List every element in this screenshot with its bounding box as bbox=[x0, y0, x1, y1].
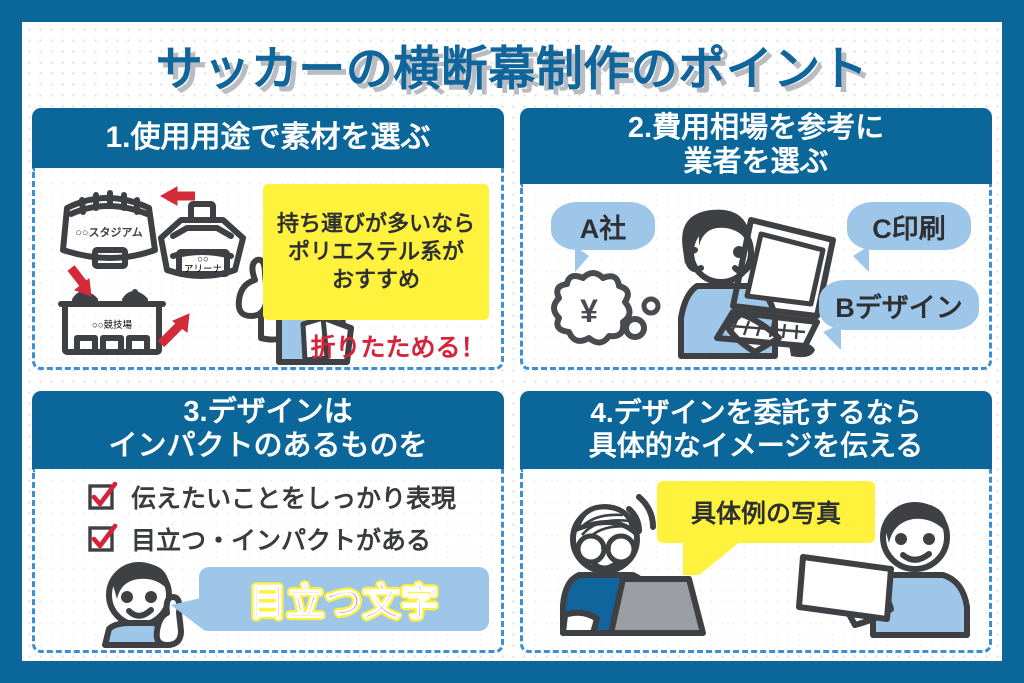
panel-3-heading-line1: 3.デザインは bbox=[108, 396, 427, 430]
panel-2-heading: 2.費用相場を参考に 業者を選ぶ bbox=[520, 108, 992, 184]
callout-line-1: 持ち運びが多いなら bbox=[277, 210, 475, 238]
checkbox-checked-icon bbox=[87, 524, 117, 554]
checklist-label-1: 伝えたいことをしっかり表現 bbox=[131, 479, 456, 515]
checklist-item-2: 目立つ・インパクトがある bbox=[87, 521, 431, 557]
panel-4-heading: 4.デザインを委託するなら 具体的なイメージを伝える bbox=[520, 391, 992, 469]
foldable-emphasis: 折りたためる！ bbox=[303, 328, 493, 364]
panel-2-body: ¥ bbox=[520, 184, 992, 370]
impact-text: 目立つ文字 bbox=[249, 572, 439, 626]
panel-1-heading: 1.使用用途で素材を選ぶ bbox=[32, 108, 504, 168]
infographic-frame: サッカーの横断幕制作のポイント 1.使用用途で素材を選ぶ bbox=[22, 22, 1002, 661]
panel-2-heading-line1: 2.費用相場を参考に bbox=[628, 112, 884, 146]
panel-3-heading-line2: インパクトのあるものを bbox=[108, 430, 427, 464]
vendor-bubble-b: Bデザイン bbox=[819, 280, 979, 330]
vendor-bubble-c: C印刷 bbox=[847, 202, 971, 250]
panel-4-heading-line1: 4.デザインを委託するなら bbox=[589, 397, 924, 430]
field-icon: ○○競技場 bbox=[61, 292, 163, 352]
venue-diagram: ○○スタジアム ○○ アリーナ bbox=[49, 174, 259, 364]
stadium-label: ○○スタジアム bbox=[75, 226, 143, 239]
panel-3-body: 伝えたいことをしっかり表現 目立つ・インパクトがある bbox=[32, 469, 504, 653]
checklist-item-1: 伝えたいことをしっかり表現 bbox=[87, 479, 456, 515]
field-label: ○○競技場 bbox=[92, 319, 132, 331]
vendor-bubble-a: A社 bbox=[551, 202, 655, 250]
panel-vendor-selection: 2.費用相場を参考に 業者を選ぶ ¥ bbox=[520, 108, 992, 370]
title-container: サッカーの横断幕制作のポイント bbox=[22, 30, 1002, 99]
callout-line-2: ポリエステル系が bbox=[288, 238, 464, 266]
panel-1-body: ○○スタジアム ○○ アリーナ bbox=[32, 168, 504, 370]
impact-bubble: 目立つ文字 bbox=[199, 567, 489, 631]
checkbox-checked-icon bbox=[87, 482, 117, 512]
callout-line-3: おすすめ bbox=[332, 266, 420, 294]
photo-bubble-tail bbox=[683, 541, 741, 575]
panel-3-heading: 3.デザインは インパクトのあるものを bbox=[32, 391, 504, 469]
page-title: サッカーの横断幕制作のポイント bbox=[156, 30, 869, 99]
vendor-bubble-b-tail bbox=[823, 324, 841, 350]
panel-brief-communication: 4.デザインを委託するなら 具体的なイメージを伝える bbox=[520, 391, 992, 653]
panel-4-body: 具体例の写真 bbox=[520, 469, 992, 653]
stadium-icon: ○○スタジアム bbox=[63, 193, 155, 266]
panel-grid: 1.使用用途で素材を選ぶ bbox=[32, 108, 992, 653]
vendor-bubble-a-tail bbox=[575, 246, 589, 272]
material-callout: 持ち運びが多いなら ポリエステル系が おすすめ bbox=[263, 184, 489, 320]
checklist-label-2: 目立つ・インパクトがある bbox=[131, 521, 431, 557]
person-laptop-icon bbox=[655, 198, 841, 366]
arena-label-line2: アリーナ bbox=[184, 264, 222, 275]
yen-symbol: ¥ bbox=[580, 293, 598, 329]
photo-bubble: 具体例の写真 bbox=[657, 481, 875, 543]
panel-4-heading-line2: 具体的なイメージを伝える bbox=[589, 430, 924, 463]
vendor-bubble-c-tail bbox=[853, 246, 869, 272]
panel-2-heading-line2: 業者を選ぶ bbox=[628, 146, 884, 180]
panel-use-case: 1.使用用途で素材を選ぶ bbox=[32, 108, 504, 370]
panel-design-impact: 3.デザインは インパクトのあるものを 伝えたいことをしっかり表現 bbox=[32, 391, 504, 653]
yen-thought-cloud-icon: ¥ bbox=[545, 270, 665, 362]
